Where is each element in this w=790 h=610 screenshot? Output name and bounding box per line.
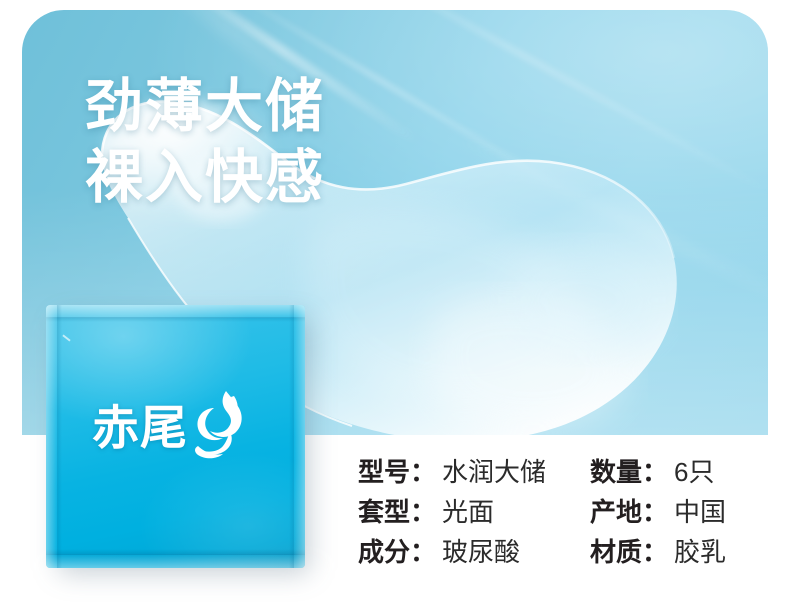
spec-colon-ingredient: ： [410, 532, 436, 569]
packet-seal-right [293, 305, 305, 568]
spec-row-quantity: 数量 ： 6只 [590, 452, 778, 492]
packet-seal-top-crease [46, 317, 305, 322]
spec-row-ingredient: 成分 ： 玻尿酸 [358, 532, 590, 572]
spec-label-quantity: 数量 [590, 452, 642, 489]
spec-row-model: 型号 ： 水润大储 [358, 452, 590, 492]
spec-row-type: 套型 ： 光面 [358, 492, 590, 532]
brand-name: 赤尾 [92, 404, 188, 451]
spec-row-material: 材质 ： 胶乳 [590, 532, 778, 572]
headline: 劲薄大储 裸入快感 [85, 72, 325, 214]
packet-seal-bottom-crease [46, 549, 305, 555]
spec-value-origin: 中国 [674, 492, 726, 529]
spec-row-origin: 产地 ： 中国 [590, 492, 778, 532]
spec-value-quantity: 6只 [674, 452, 714, 489]
spec-label-type: 套型 [358, 492, 410, 529]
flame-swirl-icon [190, 388, 248, 462]
spec-colon-model: ： [410, 452, 436, 489]
spec-label-model: 型号 [358, 452, 410, 489]
spec-label-material: 材质 [590, 532, 642, 569]
packet-seal-bottom [46, 554, 305, 568]
product-banner-image: 劲薄大储 裸入快感 赤尾 [0, 0, 790, 610]
spec-value-model: 水润大储 [442, 452, 546, 489]
headline-line-1: 劲薄大储 [85, 72, 325, 143]
spec-colon-quantity: ： [642, 452, 668, 489]
spec-value-material: 胶乳 [674, 532, 726, 569]
product-packet: 赤尾 [46, 305, 305, 568]
spec-label-ingredient: 成分 [358, 532, 410, 569]
spec-value-type: 光面 [442, 492, 494, 529]
spec-colon-type: ： [410, 492, 436, 529]
spec-colon-material: ： [642, 532, 668, 569]
packet-seal-right-crease [289, 305, 294, 568]
headline-line-2: 裸入快感 [85, 143, 325, 214]
spec-value-ingredient: 玻尿酸 [442, 532, 520, 569]
spec-colon-origin: ： [642, 492, 668, 529]
packet-seal-left-crease [57, 305, 62, 568]
packet-brand-lockup: 赤尾 [92, 392, 248, 462]
spec-label-origin: 产地 [590, 492, 642, 529]
spec-table: 型号 ： 水润大储 数量 ： 6只 套型 ： 光面 产地 ： 中国 成分 ： 玻… [358, 452, 778, 572]
